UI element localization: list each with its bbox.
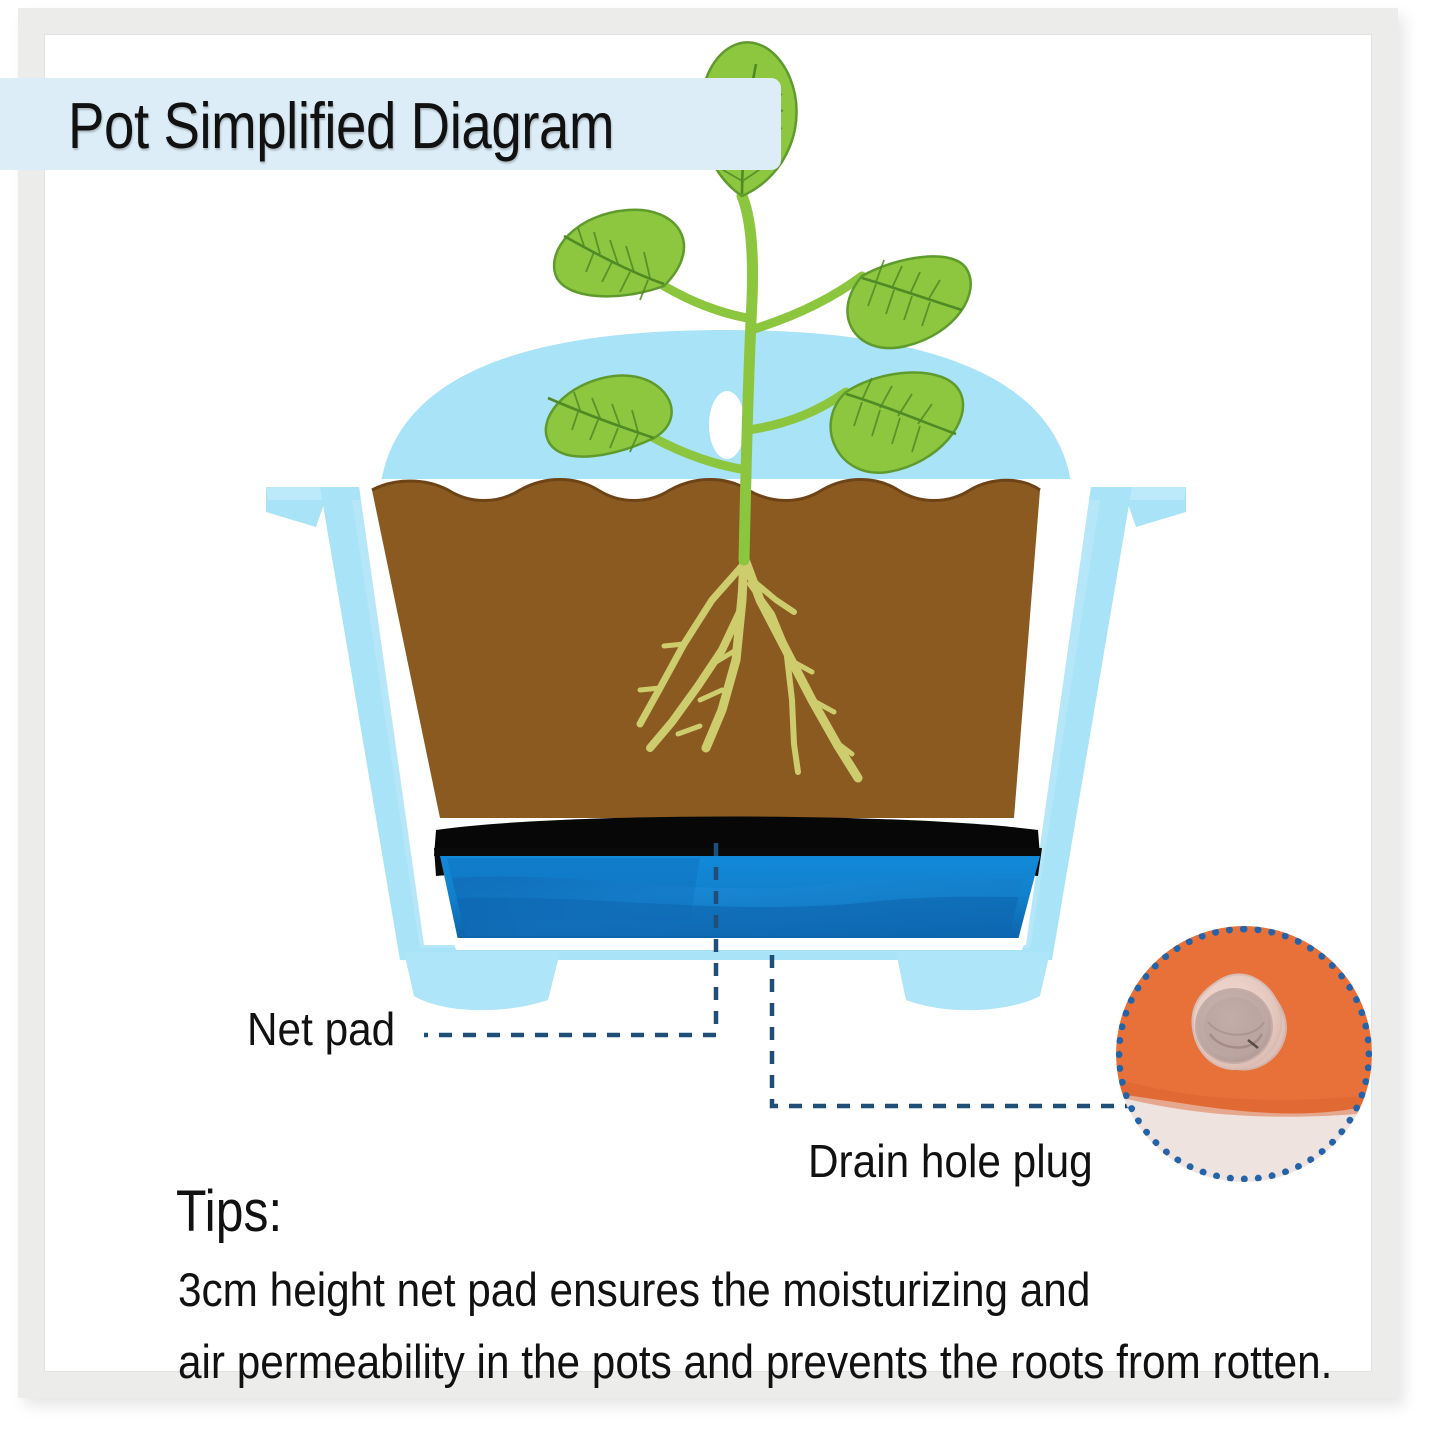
drain-hole-plug-photo: [1116, 926, 1372, 1182]
tips-heading: Tips:: [176, 1178, 282, 1245]
drain-hole-plug-label: Drain hole plug: [808, 1134, 1093, 1188]
tips-line-1: 3cm height net pad ensures the moisturiz…: [178, 1262, 1090, 1317]
net-pad-label: Net pad: [247, 1002, 395, 1056]
leaf-upper-right: [847, 256, 970, 348]
soil: [372, 480, 1040, 819]
water-reservoir: [430, 856, 1060, 950]
tips-line-2: air permeability in the pots and prevent…: [178, 1334, 1332, 1389]
diagram-page: Pot Simplified Diagram: [0, 0, 1445, 1442]
leaf-upper-left: [554, 210, 684, 300]
page-title: Pot Simplified Diagram: [68, 83, 706, 169]
